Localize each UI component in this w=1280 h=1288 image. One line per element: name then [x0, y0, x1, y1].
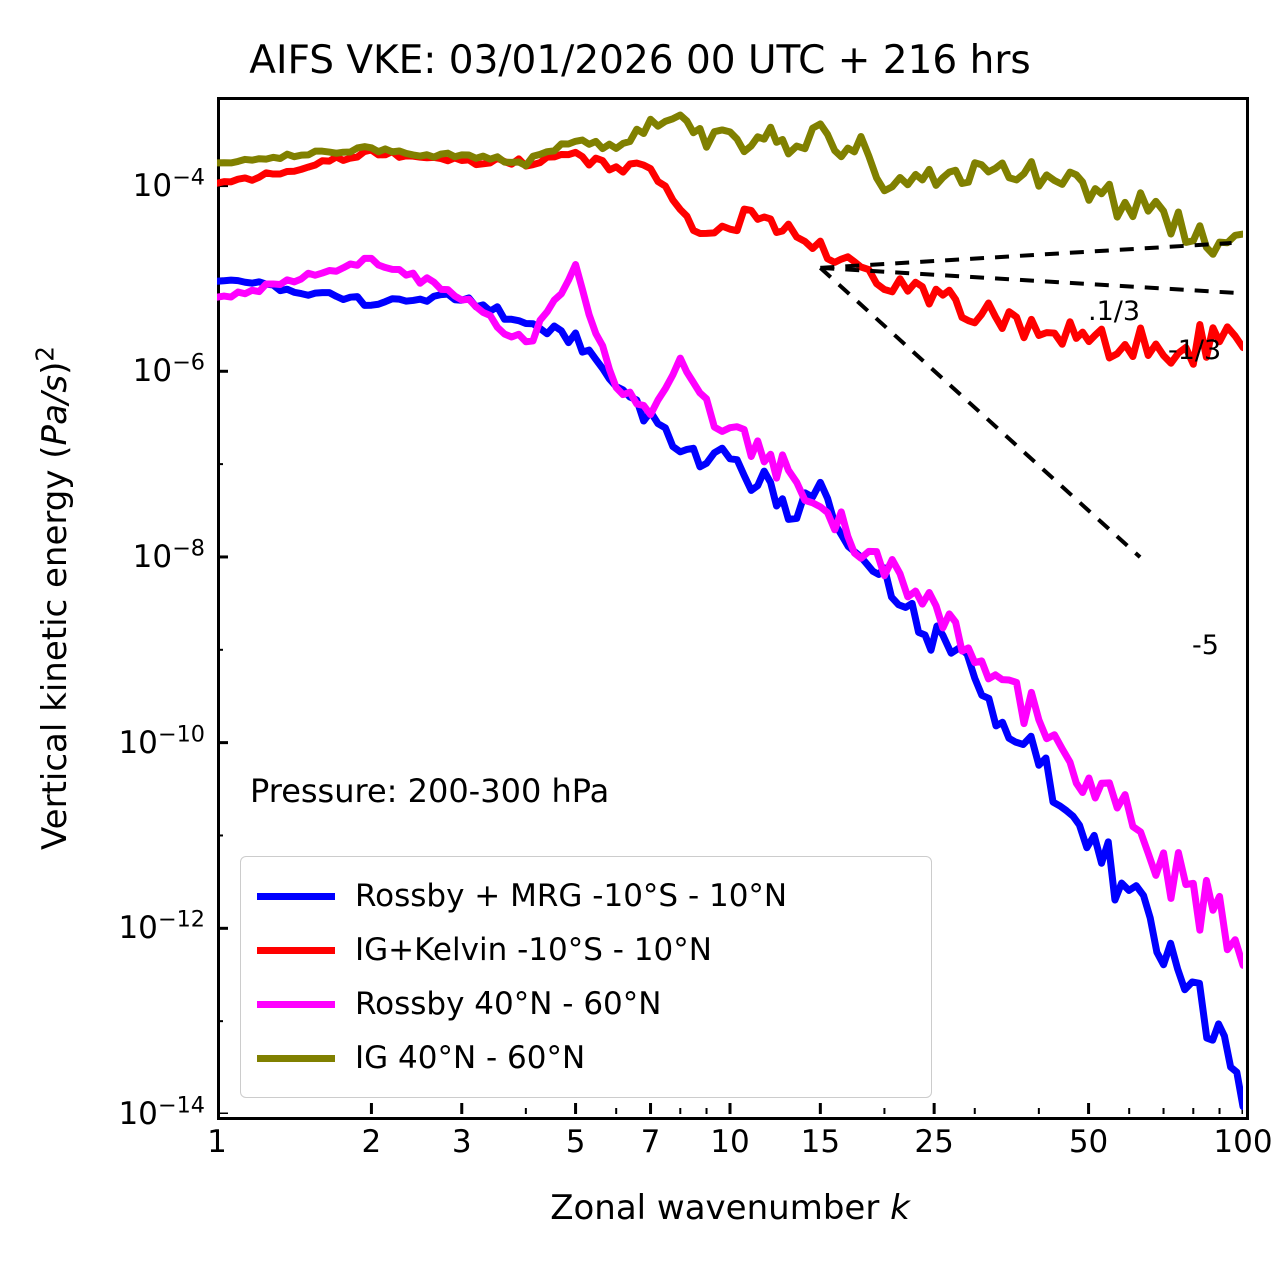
- slope-label-plus-one-third: .1/3: [1088, 296, 1140, 327]
- x-tick-label: 5: [566, 1124, 586, 1160]
- x-tick-label: 10: [710, 1124, 749, 1160]
- legend-item[interactable]: IG 40°N - 60°N: [257, 1031, 915, 1085]
- legend-color-swatch: [257, 1001, 335, 1008]
- y-tick-label: 10−6: [133, 353, 205, 389]
- x-tick-label: 25: [914, 1124, 953, 1160]
- x-axis-label: Zonal wavenumber k: [217, 1188, 1243, 1228]
- y-tick-label: 10−12: [118, 910, 205, 946]
- x-tick-label: 15: [801, 1124, 840, 1160]
- legend-label: IG+Kelvin -10°S - 10°N: [355, 932, 712, 968]
- x-tick-label: 50: [1069, 1124, 1108, 1160]
- y-tick-label: 10−10: [118, 725, 205, 761]
- legend-item[interactable]: Rossby + MRG -10°S - 10°N: [257, 869, 915, 923]
- slope-label-minus-one-third: -1/3: [1168, 335, 1221, 366]
- legend-item[interactable]: IG+Kelvin -10°S - 10°N: [257, 923, 915, 977]
- legend-color-swatch: [257, 893, 335, 900]
- legend-color-swatch: [257, 1055, 335, 1062]
- x-tick-label: 2: [362, 1124, 382, 1160]
- y-tick-label: 10−14: [118, 1096, 205, 1132]
- y-tick-label: 10−4: [133, 168, 205, 204]
- y-tick-label: 10−8: [133, 539, 205, 575]
- x-tick-label: 100: [1213, 1124, 1272, 1160]
- x-tick-label: 3: [452, 1124, 472, 1160]
- legend-label: Rossby + MRG -10°S - 10°N: [355, 878, 787, 914]
- slope-label-minus-five: -5: [1192, 630, 1219, 661]
- legend-item[interactable]: Rossby 40°N - 60°N: [257, 977, 915, 1031]
- legend-label: Rossby 40°N - 60°N: [355, 986, 661, 1022]
- x-tick-label: 7: [641, 1124, 661, 1160]
- legend-color-swatch: [257, 947, 335, 954]
- series-line: [217, 115, 1243, 254]
- legend-label: IG 40°N - 60°N: [355, 1040, 585, 1076]
- chart-page: AIFS VKE: 03/01/2026 00 UTC + 216 hrs Ve…: [0, 0, 1280, 1288]
- pressure-annotation: Pressure: 200-300 hPa: [250, 772, 609, 810]
- x-tick-label: 1: [207, 1124, 227, 1160]
- legend[interactable]: Rossby + MRG -10°S - 10°NIG+Kelvin -10°S…: [240, 856, 932, 1098]
- y-axis-tick-labels: 10−410−610−810−1010−1210−14: [0, 0, 205, 1288]
